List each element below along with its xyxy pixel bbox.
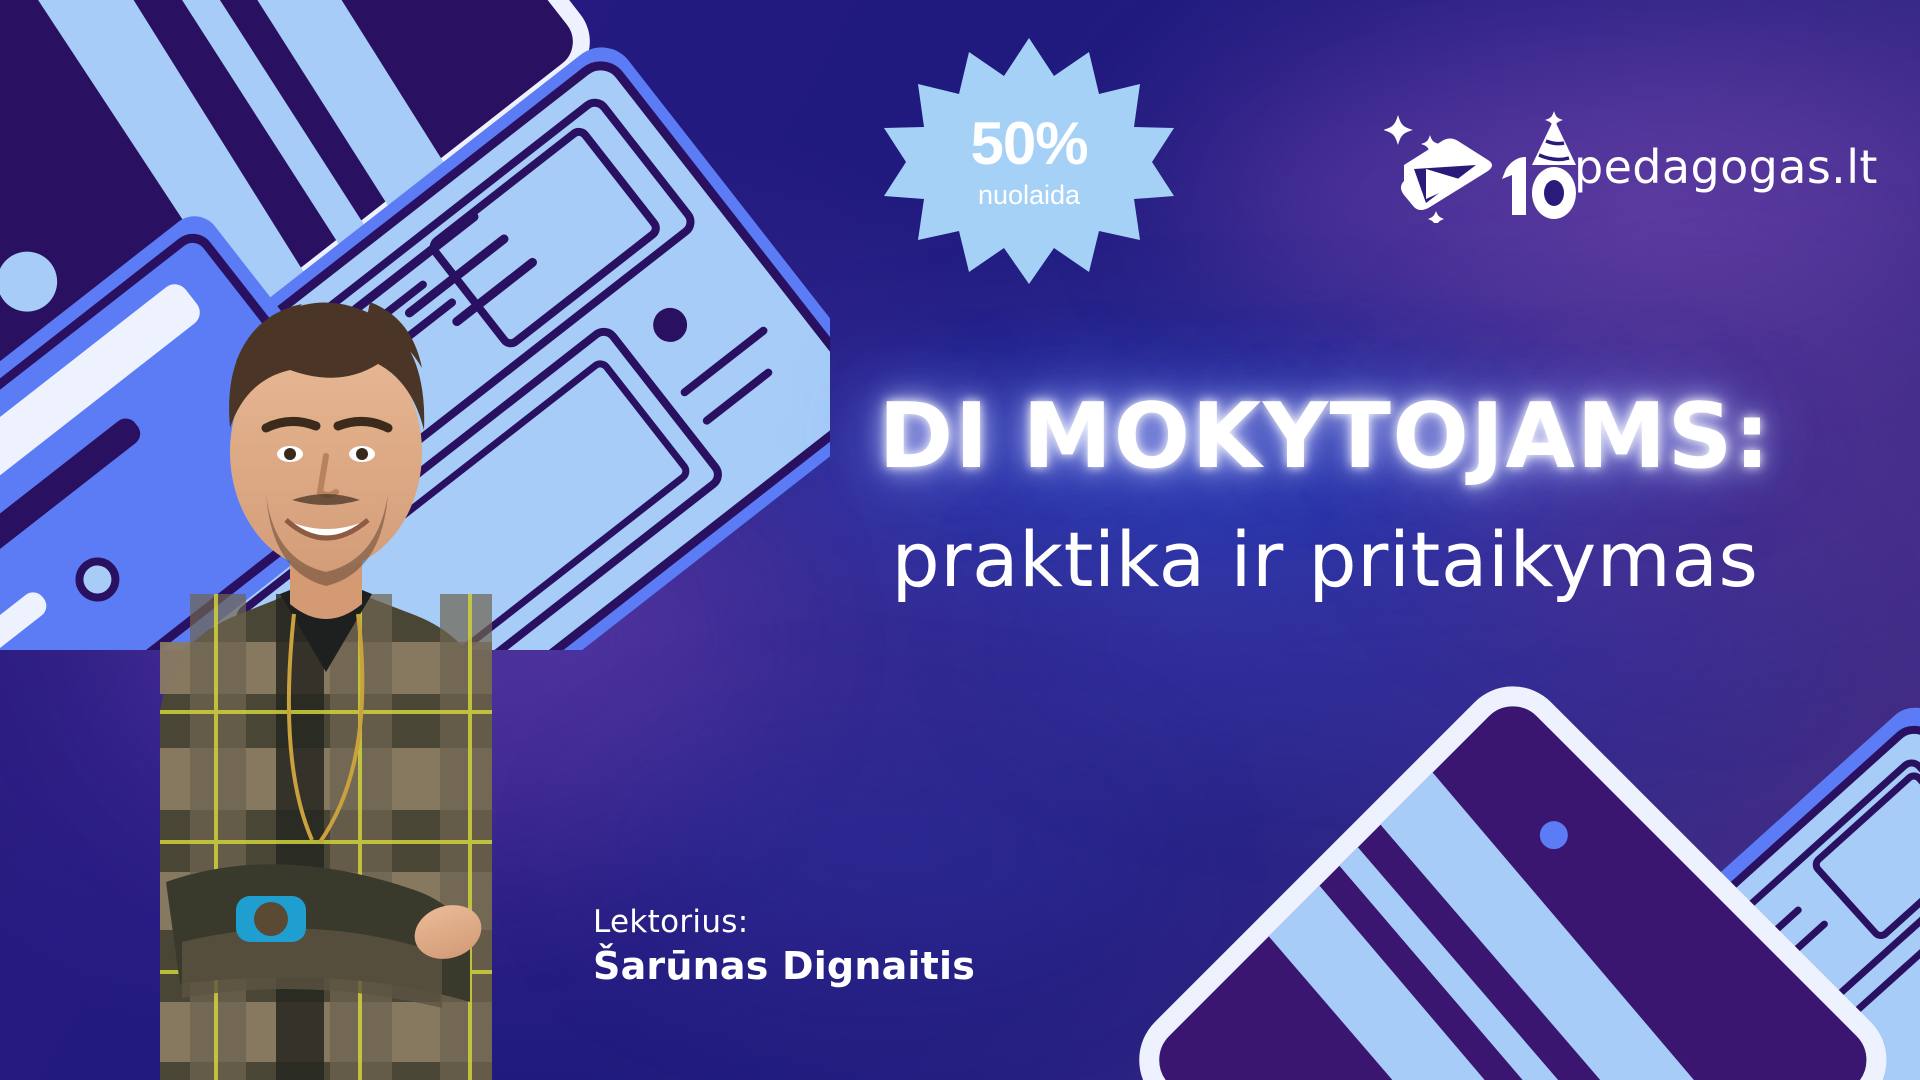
- headline-block: DI MOKYTOJAMS: praktika ir pritaikymas: [770, 392, 1880, 598]
- brand-logo[interactable]: pedagogas.lt: [1384, 126, 1878, 208]
- brand-name: pedagogas.lt: [1574, 144, 1878, 190]
- logo-mark: [1384, 121, 1560, 213]
- lecturer-block: Lektorius: Šarūnas Dignaitis: [593, 903, 975, 991]
- lecturer-name: Šarūnas Dignaitis: [593, 942, 975, 991]
- discount-badge: 50% nuolaida: [884, 36, 1174, 286]
- party-hat-icon: [1532, 111, 1576, 165]
- promo-banner: 50% nuolaida: [0, 0, 1920, 1080]
- badge-label: nuolaida: [978, 182, 1080, 209]
- lecturer-label: Lektorius:: [593, 903, 975, 942]
- play-button-icon: [1401, 139, 1492, 211]
- page-subtitle: praktika ir pritaikymas: [770, 522, 1880, 598]
- avatar: [40, 242, 600, 1080]
- rotated-tablet-illustration: [1010, 640, 1920, 1080]
- page-title: DI MOKYTOJAMS:: [770, 392, 1880, 482]
- badge-percent: 50%: [970, 114, 1087, 174]
